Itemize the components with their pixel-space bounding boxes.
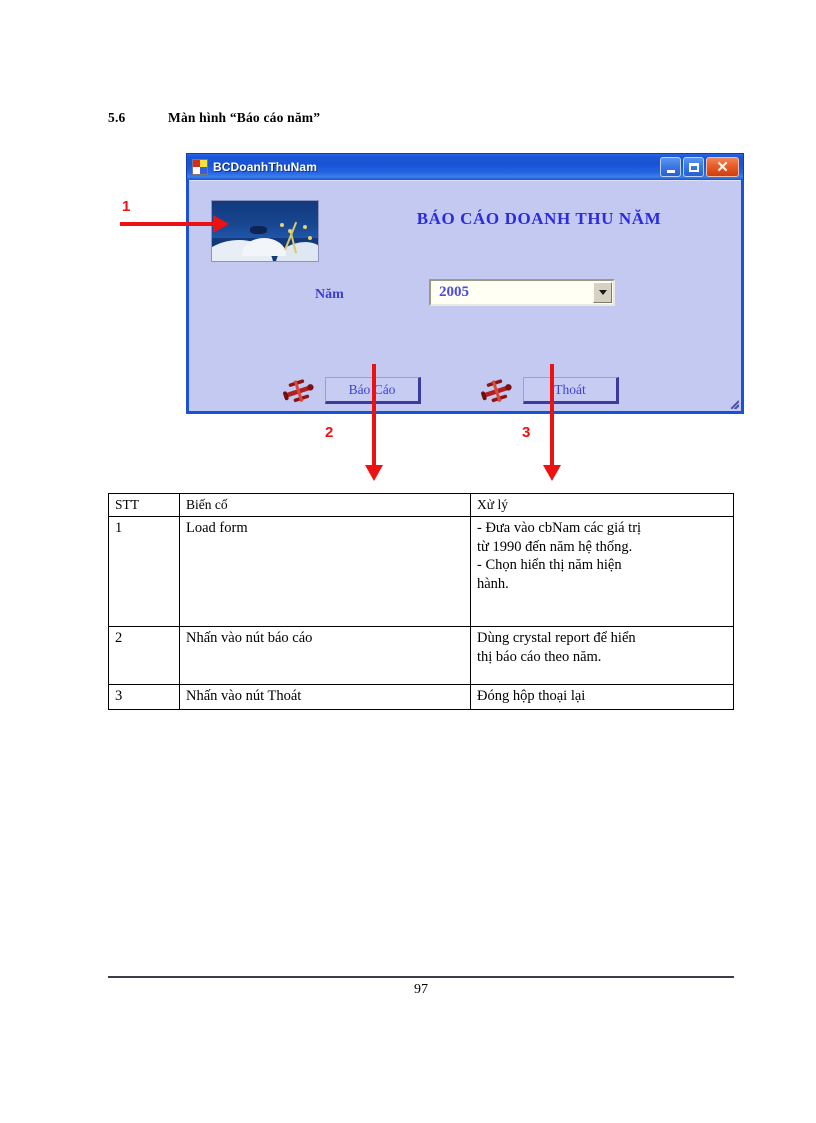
annotation-arrow-2 — [372, 364, 376, 467]
chevron-down-icon[interactable] — [593, 282, 612, 303]
dialog-client-area: BÁO CÁO DOANH THU NĂM Năm 2005 — [189, 180, 741, 411]
cell-handling: Dùng crystal report để hiển thị báo cáo … — [471, 627, 734, 685]
table-header-handling: Xử lý — [471, 494, 734, 517]
bcdoanhthunam-window: BCDoanhThuNam ✕ BÁO CÁ — [186, 156, 744, 414]
cell-event: Nhấn vào nút Thoát — [180, 685, 471, 710]
annotation-number-3: 3 — [522, 424, 530, 441]
annotation-arrow-1 — [120, 222, 215, 226]
cell-handling: - Đưa vào cbNam các giá trị từ 1990 đến … — [471, 517, 734, 627]
minimize-button[interactable] — [660, 157, 681, 177]
table-header-row: STT Biến cố Xử lý — [109, 494, 734, 517]
cell-event: Load form — [180, 517, 471, 627]
cell-event: Nhấn vào nút báo cáo — [180, 627, 471, 685]
section-heading: 5.6Màn hình “Báo cáo năm” — [108, 110, 320, 126]
cell-stt: 1 — [109, 517, 180, 627]
cell-stt: 2 — [109, 627, 180, 685]
table-row: 2 Nhấn vào nút báo cáo Dùng crystal repo… — [109, 627, 734, 685]
airplane-icon — [479, 377, 515, 405]
resize-grip-icon[interactable] — [723, 393, 739, 409]
table-row: 3 Nhấn vào nút Thoát Đóng hộp thoại lại — [109, 685, 734, 710]
close-icon: ✕ — [707, 158, 738, 176]
application-icon — [192, 159, 208, 175]
window-titlebar: BCDoanhThuNam ✕ — [186, 153, 744, 180]
annotation-number-1: 1 — [122, 198, 130, 215]
close-button[interactable]: ✕ — [706, 157, 739, 177]
year-combobox-value: 2005 — [431, 284, 593, 301]
window-title: BCDoanhThuNam — [213, 160, 660, 174]
cell-stt: 3 — [109, 685, 180, 710]
window-controls: ✕ — [660, 157, 739, 177]
event-handling-table: STT Biến cố Xử lý 1 Load form - Đưa vào … — [108, 493, 734, 710]
airplane-icon — [281, 377, 317, 405]
table-header-stt: STT — [109, 494, 180, 517]
table-row: 1 Load form - Đưa vào cbNam các giá trị … — [109, 517, 734, 627]
cell-handling: Đóng hộp thoại lại — [471, 685, 734, 710]
thoat-button[interactable]: Thoát — [523, 377, 619, 404]
page-number: 97 — [108, 982, 734, 998]
table-header-event: Biến cố — [180, 494, 471, 517]
year-combobox[interactable]: 2005 — [429, 279, 615, 306]
form-title: BÁO CÁO DOANH THU NĂM — [359, 209, 719, 229]
section-number: 5.6 — [108, 110, 168, 126]
footer-divider — [108, 976, 734, 978]
year-label: Năm — [315, 287, 344, 303]
annotation-arrow-3 — [550, 364, 554, 467]
maximize-button[interactable] — [683, 157, 704, 177]
section-title: Màn hình “Báo cáo năm” — [168, 110, 320, 125]
annotation-number-2: 2 — [325, 424, 333, 441]
